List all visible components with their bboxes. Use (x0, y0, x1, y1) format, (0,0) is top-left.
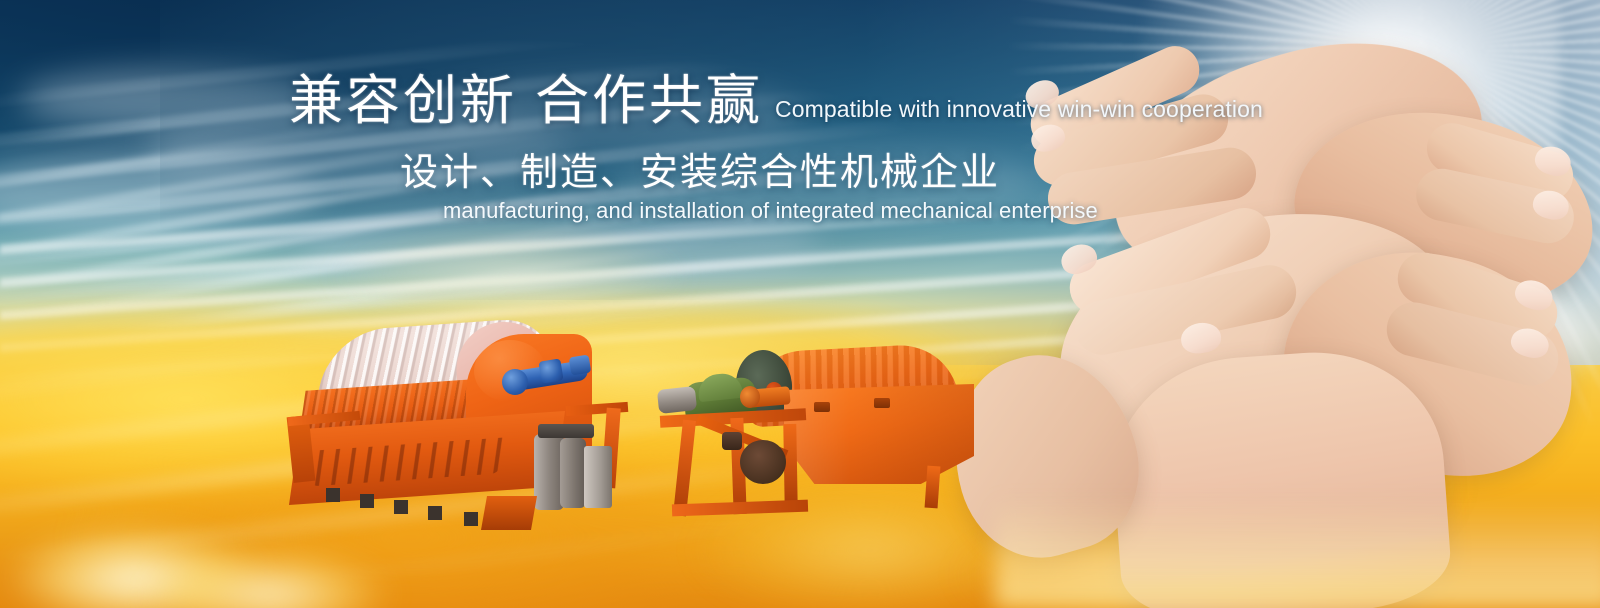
machine-photo-magnetic-separator (636, 336, 980, 518)
headline-chinese: 兼容创新 合作共赢 (289, 71, 763, 131)
promo-banner: 兼容创新 合作共赢 Compatible with innovative win… (0, 0, 1600, 608)
headline: 兼容创新 合作共赢 Compatible with innovative win… (289, 71, 1263, 131)
subline-english: manufacturing, and installation of integ… (443, 198, 1098, 224)
subline-chinese: 设计、制造、安装综合性机械企业 (400, 150, 1000, 196)
stacked-hands-photo (995, 55, 1600, 608)
headline-english: Compatible with innovative win-win coope… (775, 96, 1263, 123)
machine-photo-ceramic-filter (288, 320, 636, 538)
